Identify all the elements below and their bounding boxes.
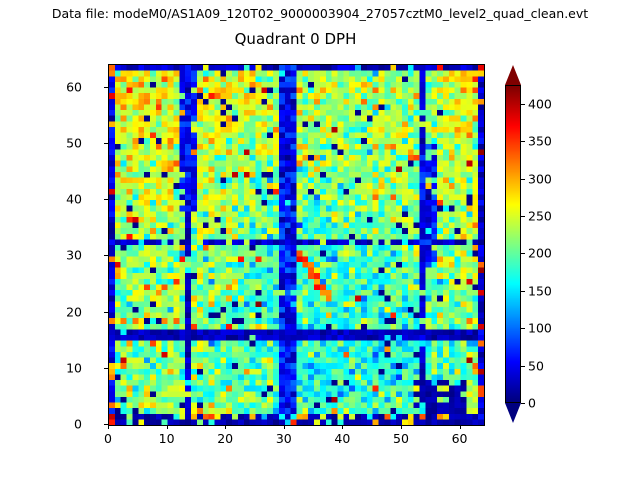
colorbar-tick-label: 250 xyxy=(528,208,552,223)
page-title: Quadrant 0 DPH xyxy=(108,30,483,48)
x-tick-label: 0 xyxy=(104,431,112,446)
y-tick-label: 50 xyxy=(66,135,82,150)
y-tick-mark xyxy=(104,424,108,425)
x-tick-label: 30 xyxy=(276,431,292,446)
x-tick-mark xyxy=(401,425,402,429)
colorbar-tick-label: 350 xyxy=(528,134,552,149)
data-file-caption: Data file: modeM0/AS1A09_120T02_90000039… xyxy=(0,6,640,21)
colorbar-extend-high-arrow xyxy=(505,65,521,85)
colorbar-body xyxy=(505,85,521,403)
colorbar xyxy=(505,64,521,424)
colorbar-tick-mark xyxy=(521,141,525,142)
colorbar-tick-label: 150 xyxy=(528,283,552,298)
colorbar-tick-label: 0 xyxy=(528,396,536,411)
colorbar-tick-label: 100 xyxy=(528,321,552,336)
colorbar-tick-mark xyxy=(521,328,525,329)
y-tick-label: 60 xyxy=(66,79,82,94)
y-tick-mark xyxy=(104,368,108,369)
colorbar-gradient xyxy=(506,86,520,402)
colorbar-tick-mark xyxy=(521,179,525,180)
y-tick-mark xyxy=(104,255,108,256)
x-tick-label: 10 xyxy=(159,431,175,446)
colorbar-tick-label: 400 xyxy=(528,96,552,111)
y-tick-label: 30 xyxy=(66,248,82,263)
colorbar-tick-label: 300 xyxy=(528,171,552,186)
colorbar-tick-label: 50 xyxy=(528,358,544,373)
x-tick-mark xyxy=(108,425,109,429)
colorbar-tick-label: 200 xyxy=(528,246,552,261)
x-tick-label: 20 xyxy=(217,431,233,446)
y-tick-mark xyxy=(104,199,108,200)
y-tick-label: 20 xyxy=(66,304,82,319)
heatmap-axes xyxy=(108,64,485,426)
x-tick-label: 60 xyxy=(452,431,468,446)
detector-heatmap-image xyxy=(109,65,484,425)
colorbar-tick-mark xyxy=(521,104,525,105)
colorbar-extend-low-arrow xyxy=(505,403,521,423)
y-tick-mark xyxy=(104,143,108,144)
x-tick-mark xyxy=(342,425,343,429)
colorbar-tick-mark xyxy=(521,291,525,292)
colorbar-tick-mark xyxy=(521,403,525,404)
colorbar-tick-mark xyxy=(521,216,525,217)
y-tick-label: 0 xyxy=(74,417,82,432)
x-tick-label: 50 xyxy=(393,431,409,446)
x-tick-mark xyxy=(460,425,461,429)
colorbar-tick-mark xyxy=(521,253,525,254)
matplotlib-figure: Data file: modeM0/AS1A09_120T02_90000039… xyxy=(0,0,640,480)
x-tick-mark xyxy=(284,425,285,429)
y-tick-mark xyxy=(104,87,108,88)
colorbar-tick-mark xyxy=(521,366,525,367)
y-tick-label: 40 xyxy=(66,192,82,207)
x-tick-label: 40 xyxy=(334,431,350,446)
y-tick-label: 10 xyxy=(66,360,82,375)
y-tick-mark xyxy=(104,312,108,313)
x-tick-mark xyxy=(225,425,226,429)
x-tick-mark xyxy=(167,425,168,429)
